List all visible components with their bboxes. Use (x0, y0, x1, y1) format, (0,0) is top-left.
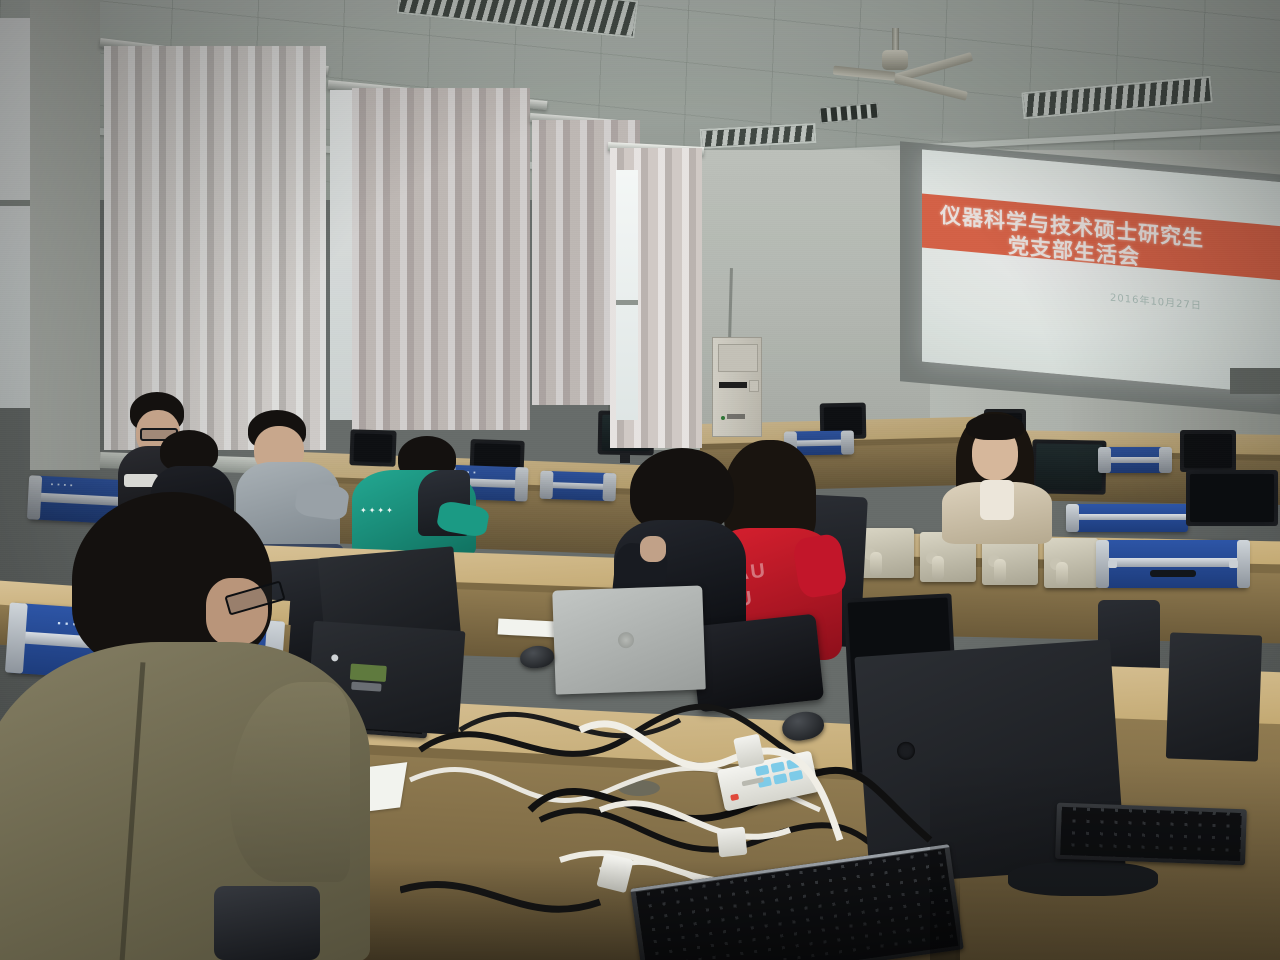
blue-flight-case (1100, 447, 1170, 473)
chair-armrest (214, 886, 320, 960)
hand (640, 536, 666, 562)
classroom-photo: 仪器科学与技术硕士研究生 党支部生活会 2016年10月27日 ▪ ▪ ▪ (0, 0, 1280, 960)
wall-column (30, 0, 100, 470)
curtain-panel-2 (352, 88, 530, 430)
inner-top (980, 480, 1014, 520)
desktop-tower-pc (712, 337, 762, 437)
curtain-panel-1 (104, 46, 326, 450)
person-man-khaki-jacket (0, 492, 380, 960)
hair-fringe (966, 414, 1024, 440)
monitor-base (1008, 862, 1158, 896)
keyboard (1055, 803, 1247, 866)
window-mullion (616, 300, 638, 305)
screen-lower-block (1230, 368, 1280, 394)
power-plug (717, 827, 748, 858)
blue-flight-case (542, 471, 615, 501)
blue-flight-case (1098, 540, 1248, 588)
beige-instrument-unit (1044, 538, 1098, 588)
arm (792, 533, 849, 600)
monitor-rear-panel (1166, 632, 1262, 761)
person-woman-cream-cardigan (938, 412, 1056, 542)
blue-flight-case (1068, 504, 1188, 532)
crt-monitor (1186, 470, 1278, 526)
window-glass (616, 170, 638, 420)
ceiling-fan (880, 28, 910, 74)
window-mullion (0, 200, 30, 206)
paper-sheet (498, 618, 559, 637)
projector-screen: 仪器科学与技术硕士研究生 党支部生活会 2016年10月27日 (922, 150, 1280, 395)
crt-monitor (1180, 430, 1236, 472)
window-glass (0, 18, 30, 408)
beige-instrument-unit (858, 528, 914, 578)
